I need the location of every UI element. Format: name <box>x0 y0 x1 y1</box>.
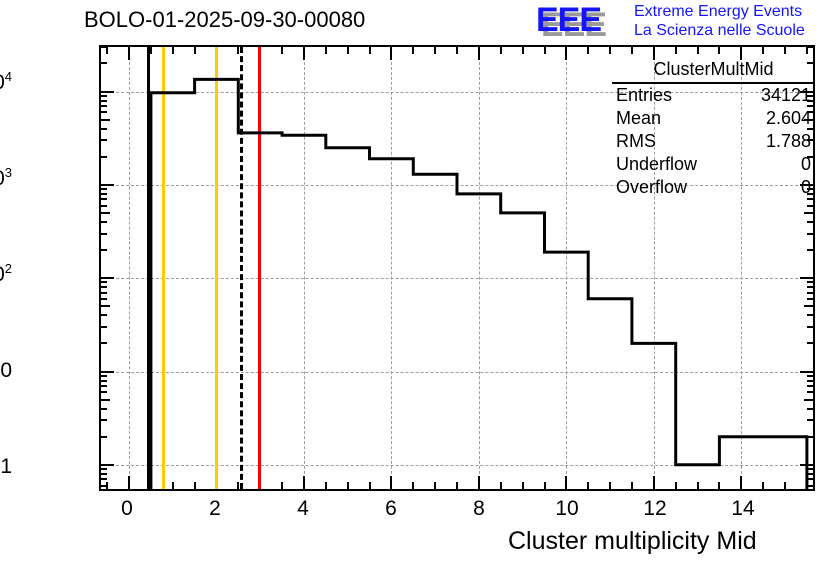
eee-logo-mark-front: EEE <box>536 3 601 37</box>
eee-logo-mark: EEE EEE <box>536 3 628 37</box>
stats-value: 2.604 <box>766 108 811 129</box>
x-tick-label-0: 0 <box>97 497 157 521</box>
y-tick-label-1e4: 104 <box>0 72 12 93</box>
x-tick-label-2: 2 <box>185 497 245 521</box>
x-tick-label-12: 12 <box>625 497 685 521</box>
stats-value: 34121 <box>761 85 811 106</box>
stats-key: Entries <box>616 85 672 106</box>
stats-row-entries: Entries34121 <box>612 84 815 107</box>
stats-box[interactable]: ClusterMultMid Entries34121Mean2.604RMS1… <box>612 58 815 199</box>
y-tick-label-1: 1 <box>0 456 12 477</box>
stats-key: Mean <box>616 108 661 129</box>
root-canvas: BOLO-01-2025-09-30-00080 EEE EEE Extreme… <box>0 0 836 572</box>
y-tick-label-1e3: 103 <box>0 168 12 189</box>
stats-value: 0 <box>801 154 811 175</box>
stats-value: 0 <box>801 177 811 198</box>
stats-key: RMS <box>616 131 656 152</box>
x-tick-label-4: 4 <box>273 497 333 521</box>
x-tick-label-8: 8 <box>449 497 509 521</box>
stats-row-underflow: Underflow0 <box>612 153 815 176</box>
eee-logo-line1: Extreme Energy Events <box>634 2 805 21</box>
stats-key: Underflow <box>616 154 697 175</box>
x-axis-title: Cluster multiplicity Mid <box>508 527 757 556</box>
page-title: BOLO-01-2025-09-30-00080 <box>84 7 365 33</box>
y-tick-label-1e2: 102 <box>0 264 12 285</box>
stats-value: 1.788 <box>766 131 811 152</box>
stats-box-rows: Entries34121Mean2.604RMS1.788Underflow0O… <box>612 84 815 199</box>
x-tick-label-6: 6 <box>361 497 421 521</box>
x-tick-label-14: 14 <box>713 497 773 521</box>
stats-box-title: ClusterMultMid <box>612 58 815 84</box>
stats-row-mean: Mean2.604 <box>612 107 815 130</box>
x-tick-label-10: 10 <box>537 497 597 521</box>
stats-key: Overflow <box>616 177 687 198</box>
y-tick-label-10: 10 <box>0 360 12 381</box>
eee-logo: EEE EEE Extreme Energy Events La Scienza… <box>536 2 834 42</box>
eee-logo-text: Extreme Energy Events La Scienza nelle S… <box>634 2 805 40</box>
stats-row-overflow: Overflow0 <box>612 176 815 199</box>
stats-row-rms: RMS1.788 <box>612 130 815 153</box>
eee-logo-line2: La Scienza nelle Scuole <box>634 21 805 40</box>
